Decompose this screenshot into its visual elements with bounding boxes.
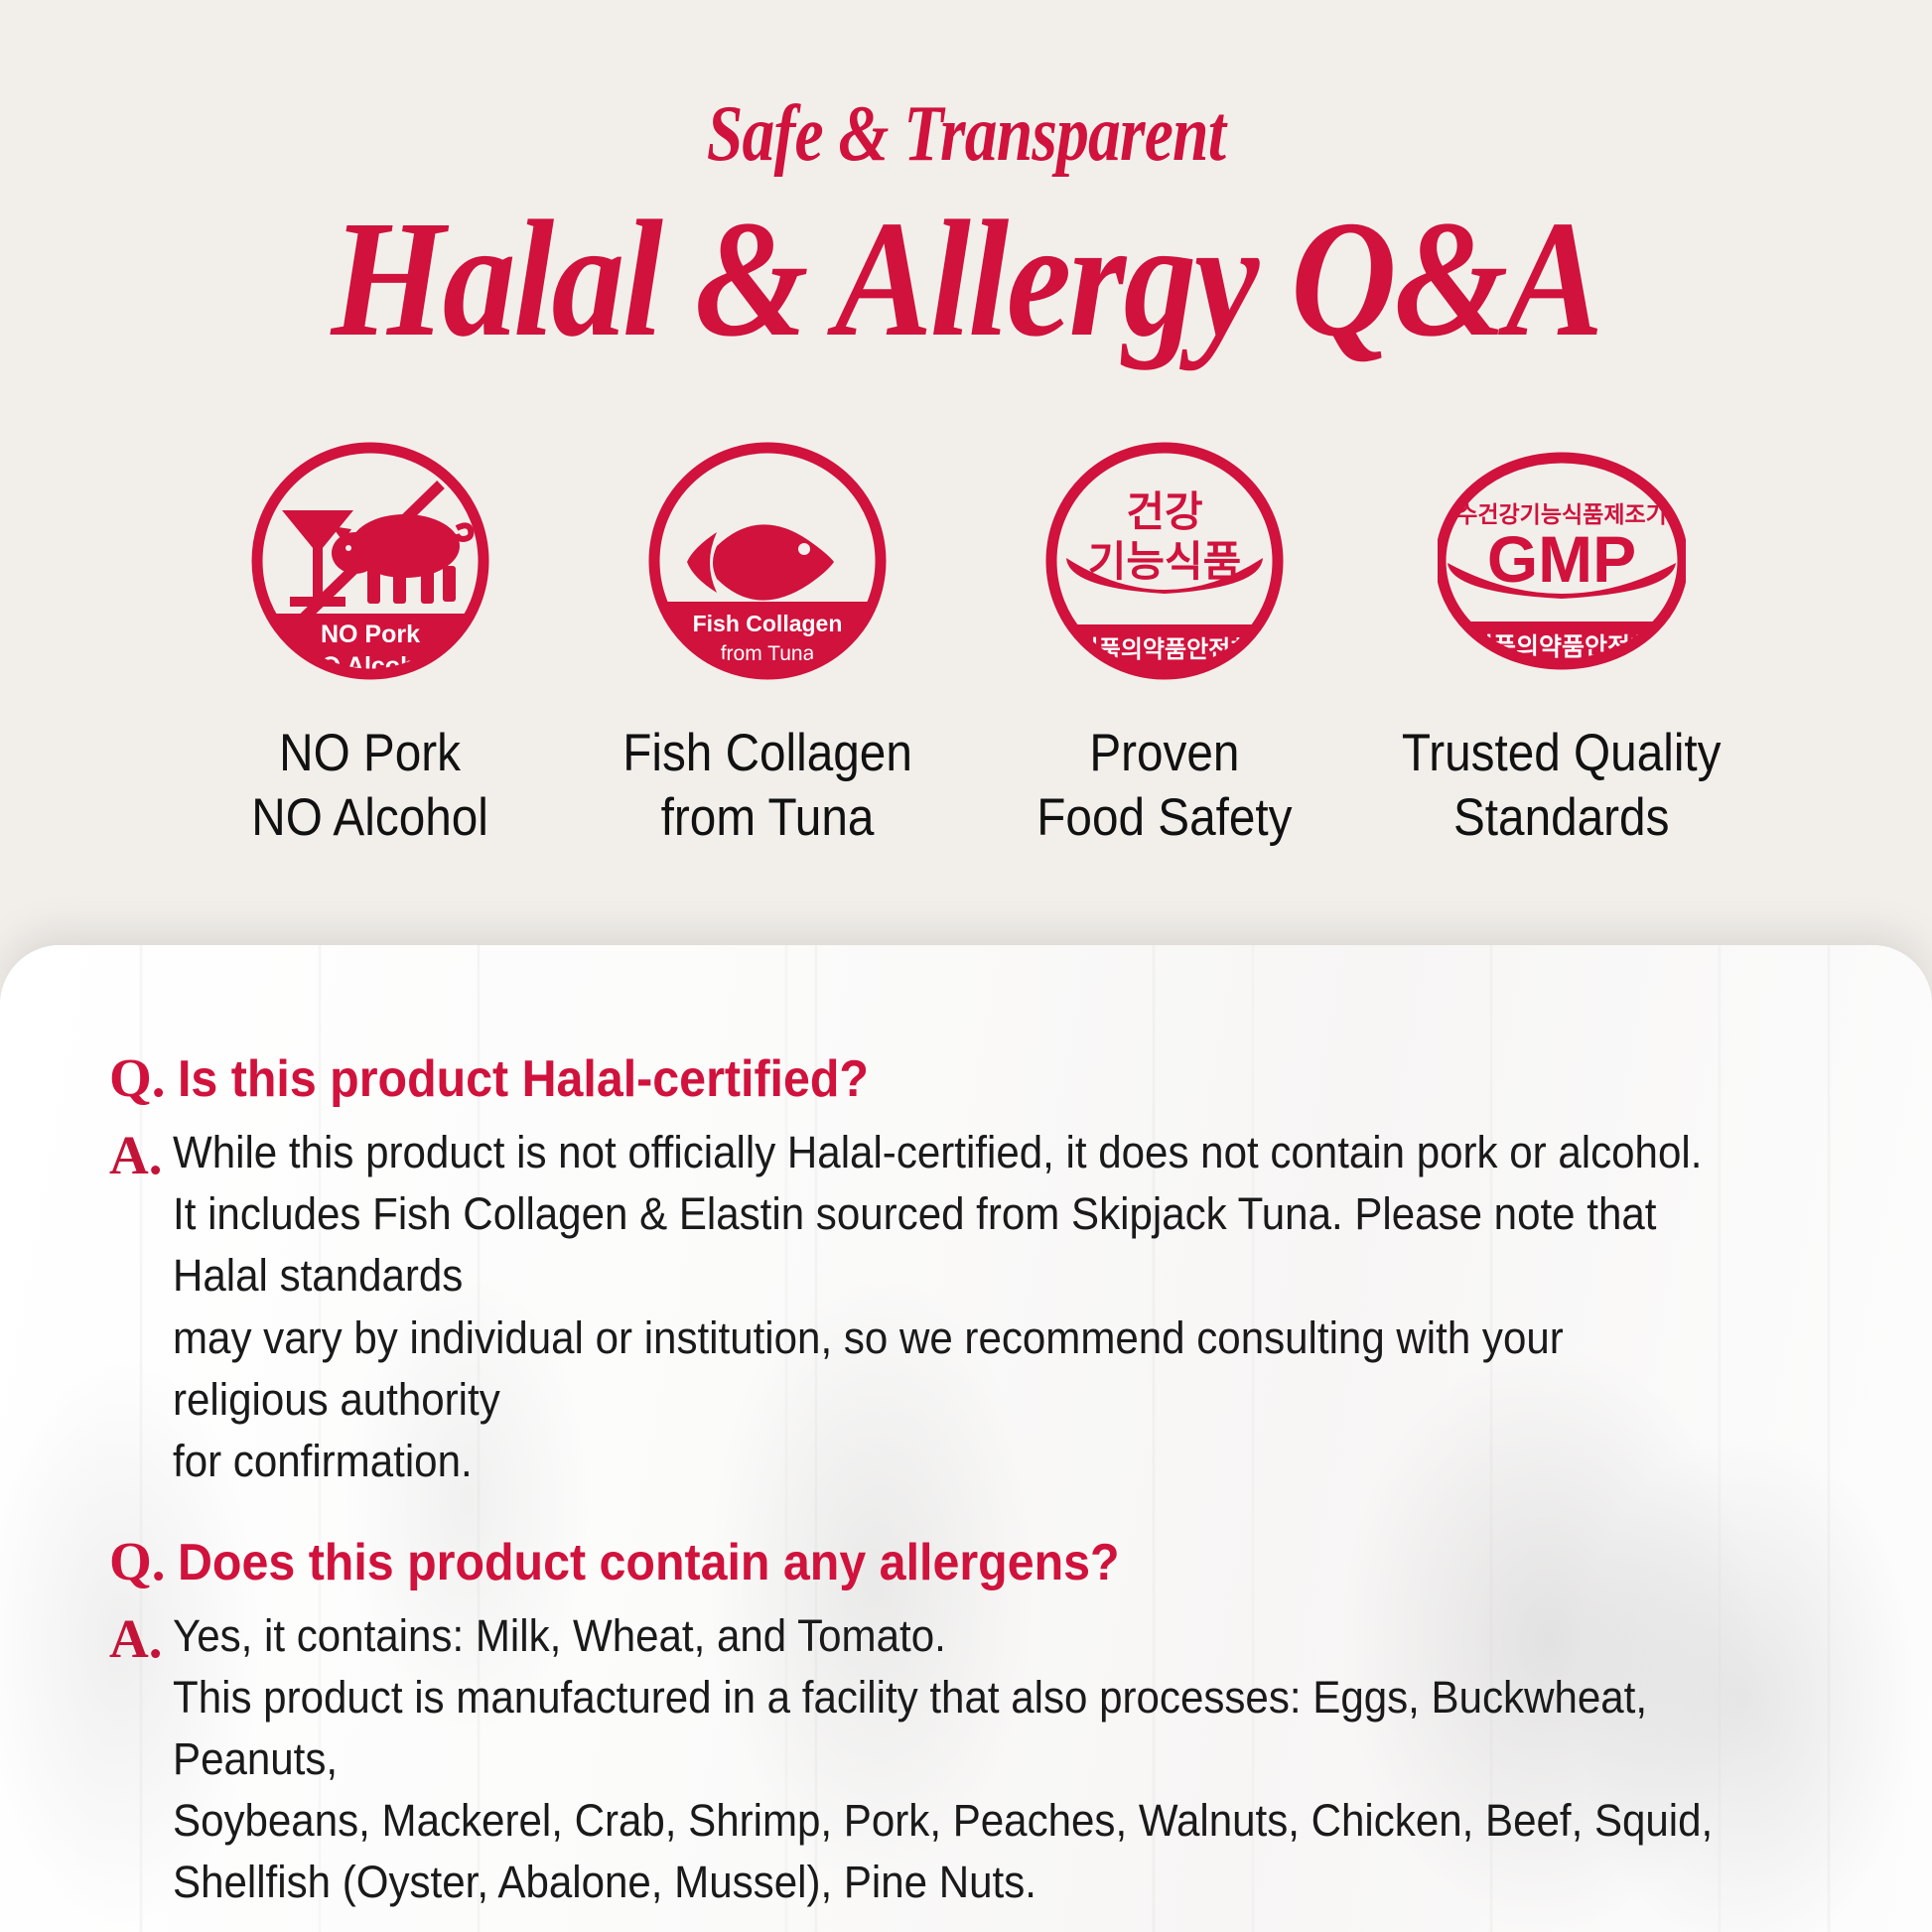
question-line: Q. Is this product Halal-certified?: [109, 1050, 1823, 1108]
question-text: Does this product contain any allergens?: [178, 1534, 1120, 1591]
korea-gmp-mark-icon: 우수건강기능식품제조기준 GMP 식품의약품안전처: [1438, 437, 1686, 685]
page-title: Halal & Allergy Q&A: [116, 196, 1816, 362]
badge-caption: NO Pork NO Alcohol: [252, 721, 489, 850]
answer-line: A. While this product is not officially …: [109, 1122, 1823, 1492]
answer-line: A. Yes, it contains: Milk, Wheat, and To…: [109, 1605, 1823, 1913]
badge-banner-line1: NO Pork: [321, 621, 420, 648]
korea-health-functional-food-mark-icon: 건강 기능식품 식품의약품안전처: [1040, 437, 1289, 685]
badge-caption: Trusted Quality Standards: [1402, 721, 1722, 850]
question-marker: Q.: [109, 1050, 166, 1105]
badge-caption: Proven Food Safety: [1036, 721, 1292, 850]
qa-item: Q. Does this product contain any allerge…: [109, 1534, 1823, 1914]
qa-item: Q. Is this product Halal-certified? A. W…: [109, 1050, 1823, 1492]
question-line: Q. Does this product contain any allerge…: [109, 1534, 1823, 1591]
qa-card: Q. Is this product Halal-certified? A. W…: [0, 945, 1932, 1932]
answer-text: While this product is not officially Hal…: [173, 1122, 1716, 1492]
answer-text: Yes, it contains: Milk, Wheat, and Tomat…: [173, 1605, 1716, 1913]
no-pork-no-alcohol-icon: NO Pork NO Alcohol: [246, 437, 494, 685]
badge-trusted-quality-standards: 우수건강기능식품제조기준 GMP 식품의약품안전처 Trusted Qualit…: [1363, 437, 1760, 850]
badge-banner-line2: from Tuna: [721, 642, 815, 665]
qa-list: Q. Is this product Halal-certified? A. W…: [0, 945, 1932, 1932]
badge-proven-food-safety: 건강 기능식품 식품의약품안전처 Proven Food Safety: [966, 437, 1363, 850]
mark-line2: 기능식품: [1088, 538, 1242, 585]
question-marker: Q.: [109, 1534, 166, 1588]
question-text: Is this product Halal-certified?: [178, 1050, 869, 1108]
fish-collagen-icon: Fish Collagen from Tuna: [643, 437, 892, 685]
badge-fish-collagen: Fish Collagen from Tuna Fish Collagen fr…: [569, 437, 966, 850]
mark-line2: GMP: [1487, 522, 1636, 596]
badge-caption: Fish Collagen from Tuna: [622, 721, 912, 850]
badge-no-pork-no-alcohol: NO Pork NO Alcohol NO Pork NO Alcohol: [172, 437, 569, 850]
certification-badge-row: NO Pork NO Alcohol NO Pork NO Alcohol: [0, 437, 1932, 850]
badge-banner-line1: Fish Collagen: [693, 611, 843, 636]
answer-marker: A.: [109, 1122, 162, 1188]
hero-section: Safe & Transparent Halal & Allergy Q&A: [0, 0, 1932, 1003]
answer-marker: A.: [109, 1605, 162, 1672]
hero-eyebrow: Safe & Transparent: [174, 94, 1758, 174]
mark-line1: 건강: [1126, 488, 1202, 535]
